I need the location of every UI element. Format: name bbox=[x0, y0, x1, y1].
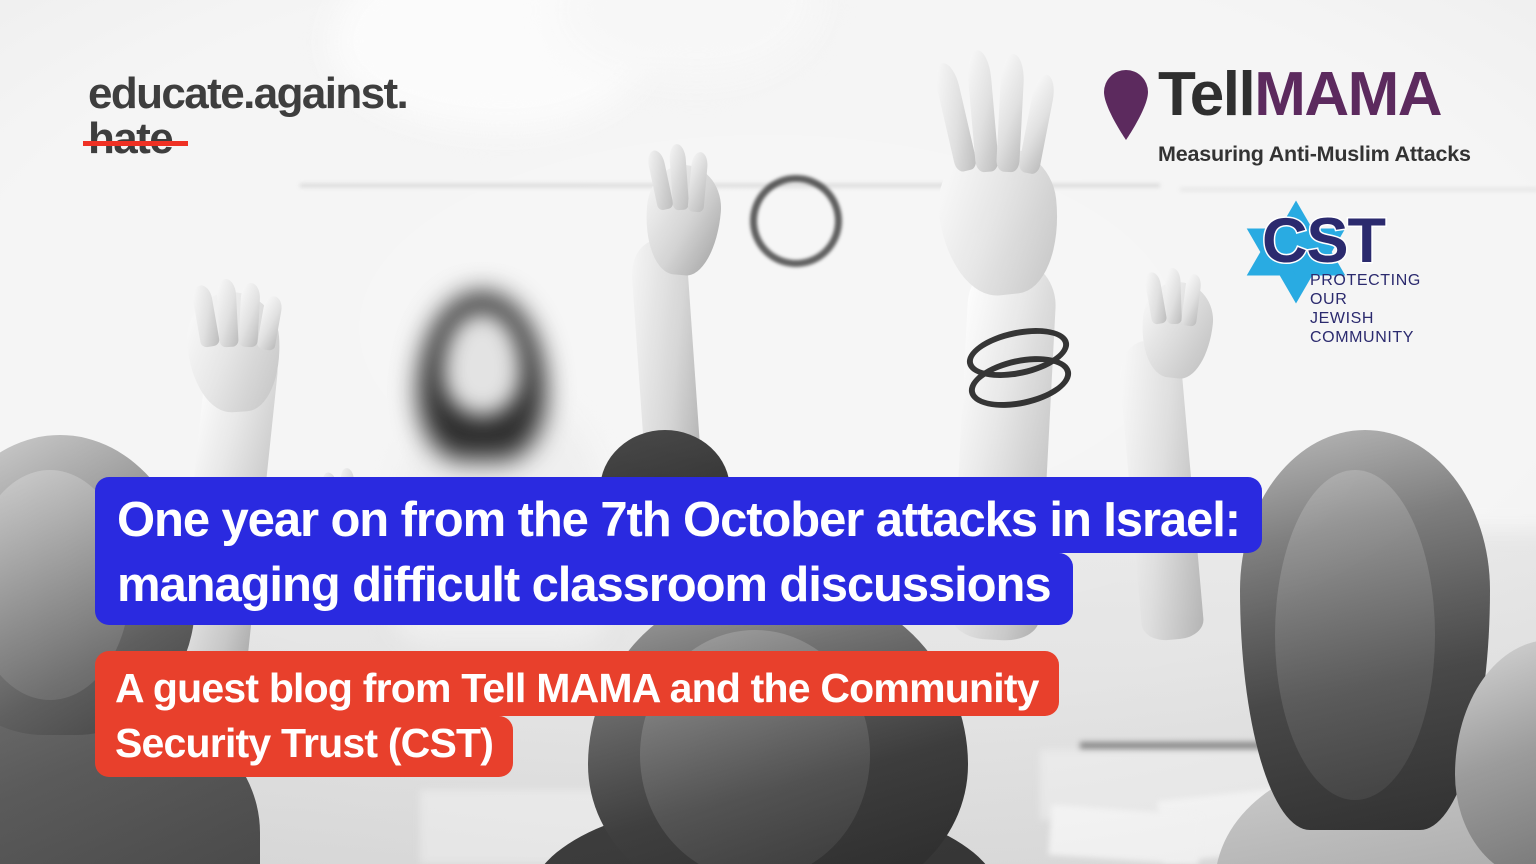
whiteboard-ledge-line-right bbox=[1180, 188, 1536, 191]
tell-mama-wordmark: TellMAMA bbox=[1158, 66, 1441, 125]
map-pin-icon bbox=[1100, 66, 1152, 140]
cst-logo[interactable]: CST PROTECTING OUR JEWISH COMMUNITY bbox=[1240, 196, 1454, 308]
tell-mama-tagline: Measuring Anti-Muslim Attacks bbox=[1158, 142, 1471, 167]
educate-against-hate-logo[interactable]: educate.against. hate bbox=[88, 72, 407, 160]
wall-ring-decor bbox=[750, 175, 842, 267]
strikethrough-line bbox=[83, 141, 188, 146]
headline-line-1: One year on from the 7th October attacks… bbox=[95, 477, 1262, 553]
headline-line-2: managing difficult classroom discussions bbox=[95, 553, 1073, 625]
hair-strand bbox=[1275, 470, 1435, 800]
tellmama-word-mama: MAMA bbox=[1254, 60, 1441, 129]
eah-logo-line1: educate.against. bbox=[88, 72, 407, 115]
tellmama-word-tell: Tell bbox=[1158, 60, 1254, 129]
cst-tagline-line2: JEWISH COMMUNITY bbox=[1310, 310, 1454, 348]
promo-banner: educate.against. hate TellMAMA Measuring… bbox=[0, 0, 1536, 864]
subtitle-line-1: A guest blog from Tell MAMA and the Comm… bbox=[95, 651, 1059, 716]
teacher-face bbox=[443, 312, 521, 416]
eah-logo-line2-wrap: hate bbox=[88, 117, 172, 160]
subtitle-banner: A guest blog from Tell MAMA and the Comm… bbox=[95, 651, 1059, 777]
finger bbox=[1165, 268, 1182, 324]
paper bbox=[1048, 805, 1201, 864]
tell-mama-logo[interactable]: TellMAMA Measuring Anti-Muslim Attacks bbox=[1100, 66, 1471, 167]
cst-tagline-line1: PROTECTING OUR bbox=[1310, 272, 1454, 310]
cst-letters: CST bbox=[1262, 210, 1385, 273]
headline-banner: One year on from the 7th October attacks… bbox=[95, 477, 1262, 625]
subtitle-line-2: Security Trust (CST) bbox=[95, 716, 513, 777]
tell-mama-wordmark-row: TellMAMA bbox=[1100, 66, 1471, 140]
eah-logo-line2: hate bbox=[88, 114, 172, 163]
cst-tagline: PROTECTING OUR JEWISH COMMUNITY bbox=[1310, 272, 1454, 348]
